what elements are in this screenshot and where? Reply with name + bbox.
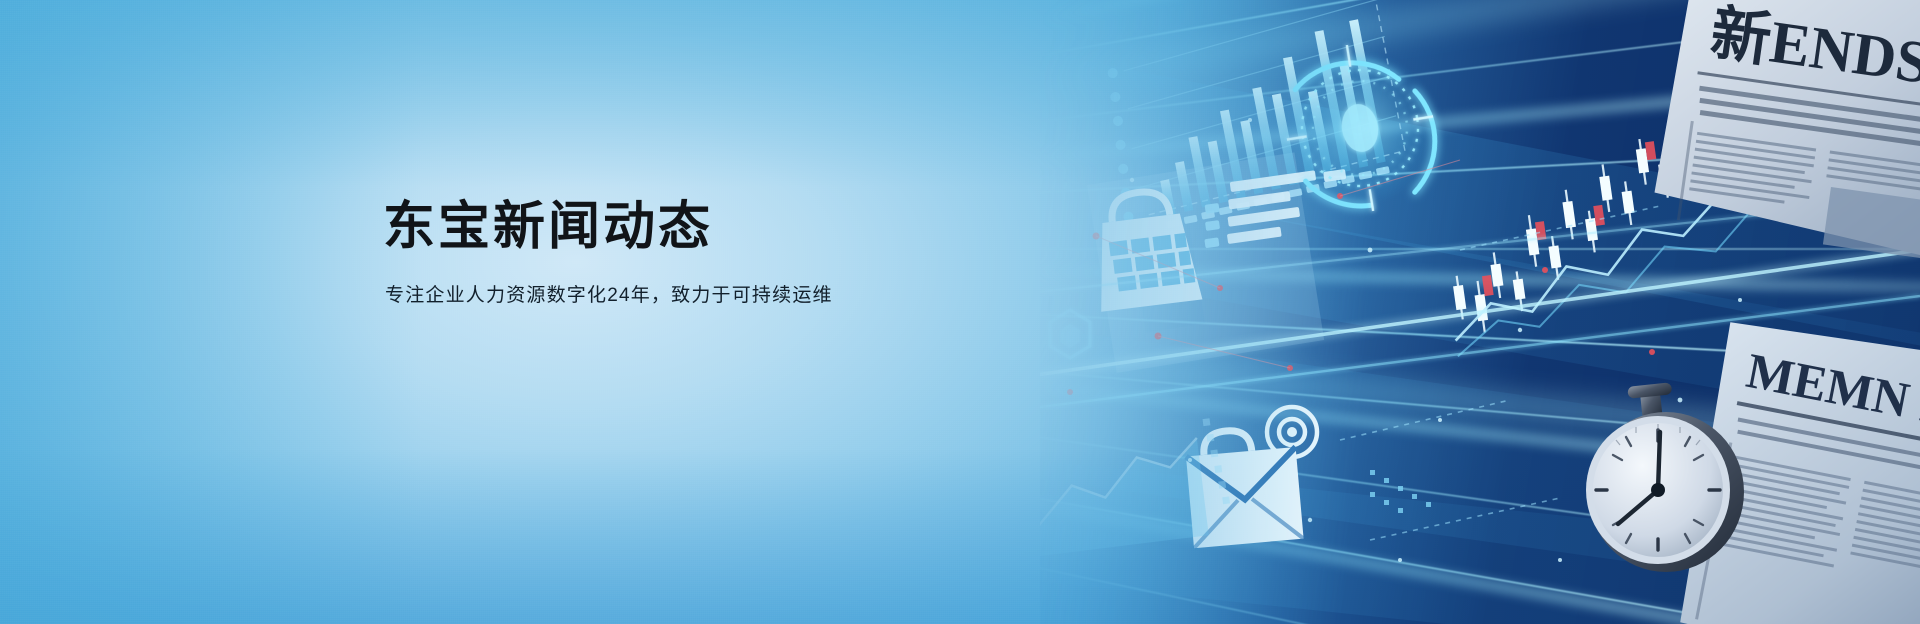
page-title: 东宝新闻动态 — [383, 196, 833, 258]
news-hero-banner: 新ENDS — [0, 0, 1920, 624]
page-subtitle: 专注企业人力资源数字化24年，致力于可持续运维 — [385, 282, 833, 310]
digital-news-technology-collage: 新ENDS — [1040, 0, 1920, 624]
tech-art-svg: 新ENDS — [1040, 0, 1920, 624]
hero-copy: 东宝新闻动态 专注企业人力资源数字化24年，致力于可持续运维 — [383, 196, 833, 310]
hexagon-node-icon — [1050, 310, 1090, 358]
newspaper-top-right: 新ENDS — [1651, 0, 1920, 264]
